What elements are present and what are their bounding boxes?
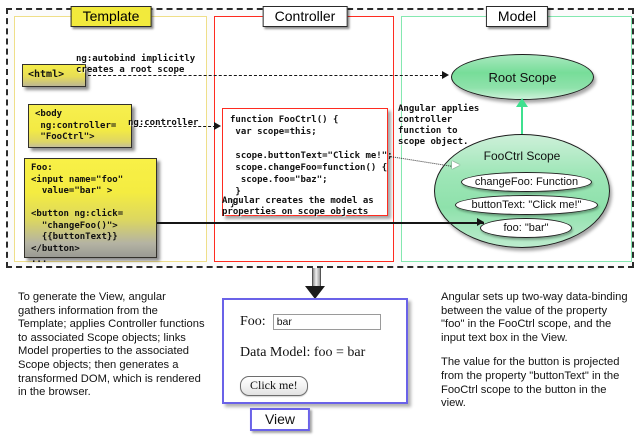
annotation-ng-autobind: ng:autobind implicitly creates a root sc… xyxy=(76,54,195,76)
description-right-paragraph-2: The value for the button is projected fr… xyxy=(441,356,629,410)
annotation-angular-creates-model: Angular creates the model as properties … xyxy=(222,196,374,218)
description-left: To generate the View, angular gathers in… xyxy=(18,291,206,411)
connector-controller-to-fooctrl-scope-arrowhead xyxy=(452,161,460,169)
template-code-block: Foo: <input name="foo" value="bar" > <bu… xyxy=(24,158,157,258)
connector-template-to-foo-property-arrowhead xyxy=(477,218,484,226)
annotation-ng-controller: ng:controller xyxy=(128,118,198,129)
fooctrl-scope-label: FooCtrl Scope xyxy=(435,149,609,163)
view-render-box: Foo: Data Model: foo = bar Click me! xyxy=(222,298,408,404)
scope-property-changefoo: changeFoo: Function xyxy=(461,172,592,192)
view-foo-label: Foo: xyxy=(240,314,266,330)
scope-property-buttontext: buttonText: "Click me!" xyxy=(455,195,598,215)
scope-property-foo: foo: "bar" xyxy=(480,218,572,238)
view-foo-row: Foo: xyxy=(240,314,381,330)
connector-html-to-root-scope xyxy=(88,75,443,76)
template-body-tag: <body ng:controller= "FooCtrl"> xyxy=(28,104,132,148)
panel-title-template: Template xyxy=(71,6,152,27)
connector-frame-to-view-shaft xyxy=(312,268,321,288)
panel-title-model: Model xyxy=(486,6,548,27)
panel-title-controller: Controller xyxy=(263,6,348,27)
scope-inheritance-arrow-shaft xyxy=(521,106,523,134)
description-right-paragraph-1: Angular sets up two-way data-binding bet… xyxy=(441,291,629,345)
description-right: Angular sets up two-way data-binding bet… xyxy=(441,291,629,422)
view-data-model-text: Data Model: foo = bar xyxy=(240,345,365,361)
connector-html-to-root-scope-arrowhead xyxy=(442,71,449,79)
scope-inheritance-arrow-head xyxy=(516,98,528,107)
diagram-canvas: Template <html> <body ng:controller= "Fo… xyxy=(0,0,640,446)
view-click-me-button[interactable]: Click me! xyxy=(240,376,308,396)
root-scope-oval: Root Scope xyxy=(451,54,594,100)
connector-body-to-controller xyxy=(134,126,216,127)
description-left-text: To generate the View, angular gathers in… xyxy=(18,291,206,400)
annotation-angular-applies-controller: Angular applies controller function to s… xyxy=(398,104,479,148)
connector-body-to-controller-arrowhead xyxy=(214,122,221,130)
connector-template-to-foo-property xyxy=(157,222,484,224)
view-foo-input[interactable] xyxy=(273,314,381,330)
panel-title-view: View xyxy=(250,408,310,431)
